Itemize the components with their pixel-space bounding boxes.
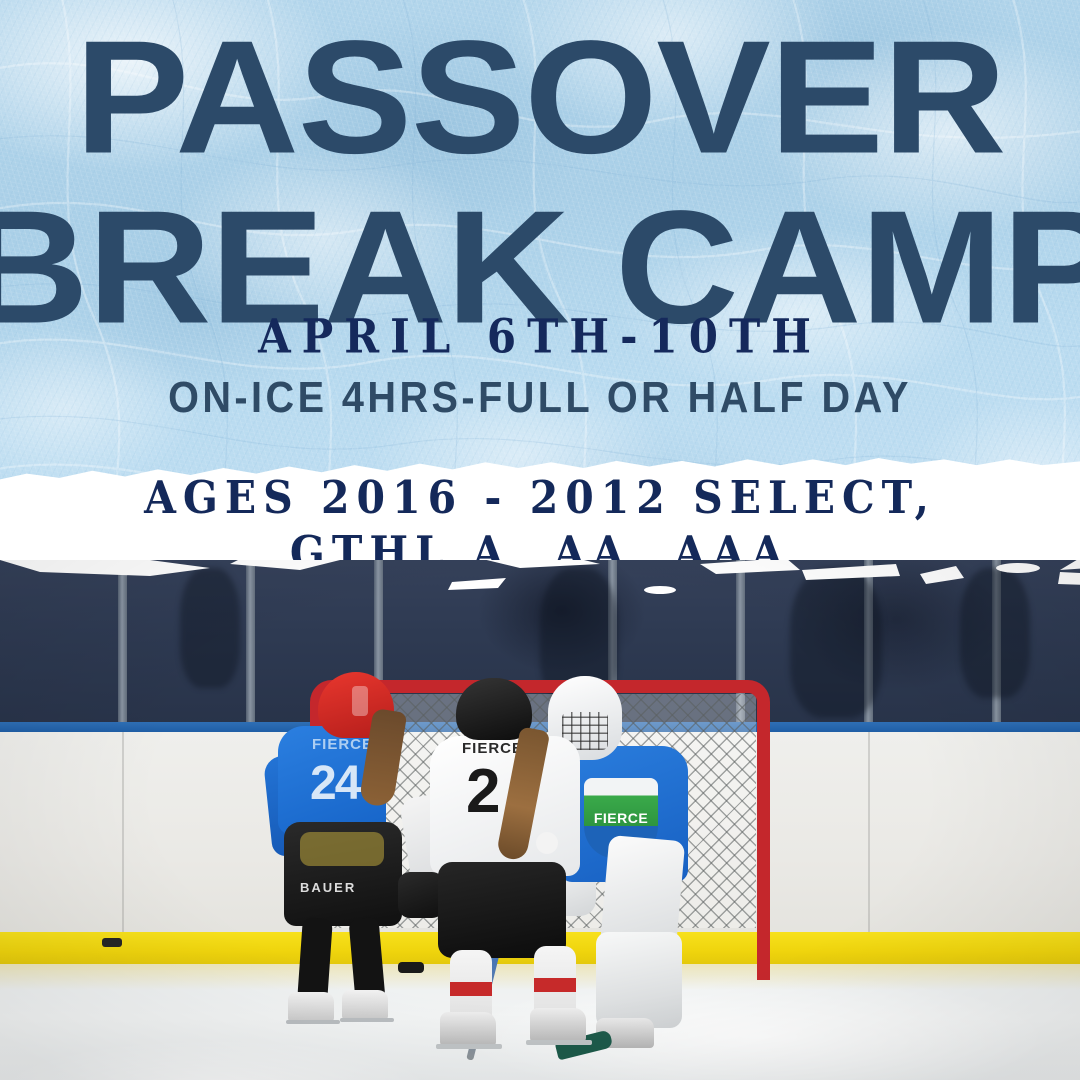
- pants-padding: [300, 832, 384, 866]
- white-skater-skate: [440, 1012, 496, 1046]
- blue-skater-name-bar: FIERCE: [312, 736, 373, 753]
- hockey-rink-photo: FIERCE 24 BAUER FIERCE FIERCE 2: [0, 560, 1080, 1080]
- puck: [398, 962, 424, 973]
- white-skater-pants: [438, 862, 566, 958]
- eligibility-line-1: AGES 2016 - 2012 SELECT,: [0, 470, 1080, 525]
- blue-skater-number: 24: [310, 756, 359, 811]
- headline-line-1: PASSOVER: [0, 22, 1080, 173]
- white-skater-skate: [530, 1008, 586, 1042]
- hair-tie: [536, 832, 558, 854]
- team-logo-text: FIERCE: [588, 810, 654, 826]
- helmet-vent: [352, 686, 368, 716]
- camp-format-line: ON-ICE 4HRS-FULL OR HALF DAY: [5, 374, 1074, 423]
- camp-date-line: APRIL 6TH-10TH: [0, 309, 1080, 364]
- skate-blade: [286, 1020, 340, 1024]
- white-skater-number: 2: [466, 756, 497, 827]
- blue-skater-skate: [288, 992, 334, 1022]
- dasher-seam: [122, 732, 124, 942]
- goalie-leg-pad: [596, 932, 682, 1028]
- blue-skater-skate: [342, 990, 388, 1020]
- blue-skater-leg: [297, 917, 333, 1003]
- skate-blade: [526, 1040, 592, 1045]
- white-skater-name-bar: FIERCE: [462, 740, 523, 757]
- poster-root: PASSOVER BREAK CAMP APRIL 6TH-10TH ON-IC…: [0, 0, 1080, 1080]
- dasher-seam: [868, 732, 870, 942]
- skate-blade: [436, 1044, 502, 1049]
- puck: [102, 938, 122, 947]
- equipment-brand-label: BAUER: [300, 880, 356, 895]
- skate-blade: [340, 1018, 394, 1022]
- sock-stripe: [534, 978, 576, 992]
- sock-stripe: [450, 982, 492, 996]
- band-paint-flecks: [0, 560, 1080, 624]
- poster-headline: PASSOVER BREAK CAMP: [0, 22, 1080, 316]
